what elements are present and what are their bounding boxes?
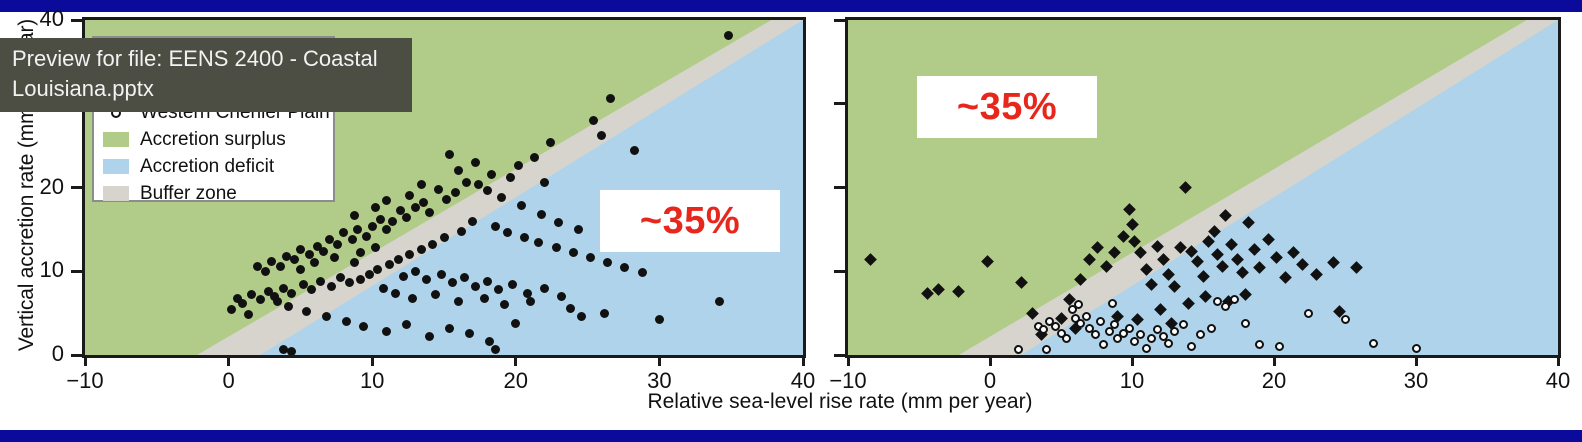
- scatter-point: [302, 307, 311, 316]
- annotation-left-percent: ~35%: [600, 190, 780, 252]
- scatter-point: [1255, 340, 1264, 349]
- scatter-point: [1241, 319, 1250, 328]
- scatter-point: [445, 324, 454, 333]
- scatter-point: [411, 203, 420, 212]
- scatter-point: [494, 285, 503, 294]
- scatter-point: [1187, 342, 1196, 351]
- scatter-point: [299, 280, 308, 289]
- scatter-point: [460, 273, 469, 282]
- scatter-point: [1310, 268, 1323, 281]
- x-axis-tick-label: 10: [342, 368, 402, 394]
- scatter-point: [296, 245, 305, 254]
- x-axis-tick: [227, 355, 230, 366]
- scatter-point: [1074, 300, 1083, 309]
- scatter-point: [1108, 299, 1117, 308]
- scatter-point: [279, 284, 288, 293]
- scatter-point: [1275, 342, 1284, 351]
- scatter-point: [600, 309, 609, 318]
- scatter-point: [574, 225, 583, 234]
- scatter-point: [1163, 268, 1176, 281]
- y-axis-tick: [834, 354, 845, 357]
- y-axis-tick: [834, 19, 845, 22]
- file-preview-tooltip: Preview for file: EENS 2400 - Coastal Lo…: [0, 38, 412, 112]
- scatter-point: [379, 284, 388, 293]
- legend-color-swatch: [103, 186, 129, 201]
- legend-item-label: Accretion surplus: [140, 129, 286, 151]
- scatter-point: [382, 225, 391, 234]
- scatter-point: [1341, 315, 1350, 324]
- scatter-point: [451, 188, 460, 197]
- scatter-point: [402, 320, 411, 329]
- scatter-point: [405, 250, 414, 259]
- y-axis-tick: [834, 102, 845, 105]
- scatter-point: [557, 292, 566, 301]
- scatter-point: [569, 248, 578, 257]
- x-axis-tick-label: 0: [960, 368, 1020, 394]
- scatter-point: [1211, 248, 1224, 261]
- scatter-point: [1142, 344, 1151, 353]
- scatter-point: [577, 312, 586, 321]
- scatter-point: [483, 186, 492, 195]
- scatter-point: [1196, 330, 1205, 339]
- scatter-point: [1082, 312, 1091, 321]
- scatter-point: [428, 240, 437, 249]
- x-axis-tick: [658, 355, 661, 366]
- scatter-point: [1146, 278, 1159, 291]
- scatter-point: [1197, 270, 1210, 283]
- y-axis-tick-label: 40: [18, 6, 64, 32]
- scatter-point: [1147, 334, 1156, 343]
- scatter-point: [417, 180, 426, 189]
- x-axis-tick-label: 10: [1102, 368, 1162, 394]
- scatter-point: [342, 317, 351, 326]
- bottom-navy-bar: [0, 430, 1582, 442]
- scatter-point: [589, 116, 598, 125]
- scatter-point: [371, 203, 380, 212]
- scatter-point: [1288, 246, 1301, 259]
- scatter-point: [517, 201, 526, 210]
- y-axis-tick: [71, 19, 82, 22]
- y-axis-tick-label: 0: [18, 341, 64, 367]
- scatter-point: [655, 315, 664, 324]
- scatter-point: [1191, 255, 1204, 268]
- scatter-point: [483, 277, 492, 286]
- scatter-point: [540, 284, 549, 293]
- scatter-point: [465, 329, 474, 338]
- scatter-point: [1091, 330, 1100, 339]
- scatter-point: [434, 185, 443, 194]
- scatter-point: [566, 304, 575, 313]
- scatter-point: [471, 282, 480, 291]
- scatter-point: [1248, 243, 1261, 256]
- scatter-point: [313, 242, 322, 251]
- scatter-point: [391, 289, 400, 298]
- y-axis-tick: [71, 186, 82, 189]
- scatter-point: [491, 222, 500, 231]
- scatter-point: [1239, 288, 1252, 301]
- x-axis-tick: [1557, 355, 1560, 366]
- chart-panel-right: [845, 17, 1561, 358]
- x-axis-tick-label: 30: [1386, 368, 1446, 394]
- scatter-point: [1304, 309, 1313, 318]
- scatter-point: [1231, 253, 1244, 266]
- scatter-point: [276, 262, 285, 271]
- scatter-point: [480, 294, 489, 303]
- scatter-point: [534, 238, 543, 247]
- scatter-point: [468, 217, 477, 226]
- x-axis-tick: [371, 355, 374, 366]
- scatter-point: [385, 260, 394, 269]
- scatter-point: [1099, 340, 1108, 349]
- x-axis-tick-label: 20: [1244, 368, 1304, 394]
- scatter-point: [457, 227, 466, 236]
- scatter-point: [511, 319, 520, 328]
- scatter-point: [1369, 339, 1378, 348]
- x-axis-tick-label: 0: [199, 368, 259, 394]
- scatter-point: [506, 173, 515, 182]
- legend-item: Buffer zone: [103, 180, 324, 207]
- scatter-point: [233, 294, 242, 303]
- scatter-point: [382, 327, 391, 336]
- scatter-point: [411, 267, 420, 276]
- scatter-point: [287, 289, 296, 298]
- scatter-point: [273, 297, 282, 306]
- x-axis-tick: [802, 355, 805, 366]
- scatter-point: [1136, 330, 1145, 339]
- scatter-point: [1230, 295, 1239, 304]
- scatter-point: [603, 258, 612, 267]
- scatter-point: [474, 180, 483, 189]
- scatter-point: [431, 290, 440, 299]
- legend-item-label: Accretion deficit: [140, 156, 274, 178]
- scatter-point: [362, 232, 371, 241]
- scatter-point: [316, 277, 325, 286]
- scatter-point: [394, 255, 403, 264]
- scatter-point: [1042, 345, 1051, 354]
- scatter-point: [724, 31, 733, 40]
- y-axis-tick: [71, 270, 82, 273]
- scatter-point: [1270, 251, 1283, 264]
- top-navy-bar: [0, 0, 1582, 12]
- scatter-point: [1154, 303, 1167, 316]
- scatter-point: [348, 235, 357, 244]
- y-axis-tick: [834, 270, 845, 273]
- scatter-point: [1242, 216, 1255, 229]
- scatter-point: [1296, 258, 1309, 271]
- x-axis-tick: [514, 355, 517, 366]
- scatter-point: [1062, 334, 1071, 343]
- scatter-point: [491, 345, 500, 354]
- scatter-point: [1253, 262, 1266, 275]
- scatter-point: [530, 153, 539, 162]
- scatter-point: [526, 297, 535, 306]
- scatter-point: [408, 294, 417, 303]
- scatter-point: [1170, 327, 1179, 336]
- scatter-point: [520, 233, 529, 242]
- x-axis-tick-label: −10: [818, 368, 878, 394]
- screenshot-root: Vertical accretion rate (mm per year) Re…: [0, 0, 1582, 442]
- scatter-point: [552, 243, 561, 252]
- scatter-point: [1350, 262, 1363, 275]
- scatter-point: [487, 170, 496, 179]
- scatter-point: [497, 193, 506, 202]
- y-axis-tick: [834, 186, 845, 189]
- x-axis-tick: [1415, 355, 1418, 366]
- scatter-point: [359, 322, 368, 331]
- x-axis-tick: [1273, 355, 1276, 366]
- scatter-point: [1207, 324, 1216, 333]
- scatter-point: [546, 138, 555, 147]
- scatter-point: [371, 243, 380, 252]
- scatter-point: [1096, 317, 1105, 326]
- scatter-point: [1217, 260, 1230, 273]
- scatter-point: [540, 178, 549, 187]
- scatter-point: [1225, 238, 1238, 251]
- scatter-point: [437, 270, 446, 279]
- legend-item: Accretion surplus: [103, 126, 324, 153]
- scatter-point: [325, 235, 334, 244]
- x-axis-tick: [847, 355, 850, 366]
- scatter-point: [554, 218, 563, 227]
- scatter-point: [445, 150, 454, 159]
- scatter-point: [417, 245, 426, 254]
- scatter-point: [500, 300, 509, 309]
- scatter-point: [399, 272, 408, 281]
- scatter-point: [1262, 233, 1275, 246]
- scatter-point: [1199, 290, 1212, 303]
- x-axis-tick: [84, 355, 87, 366]
- scatter-point: [440, 233, 449, 242]
- scatter-point: [365, 270, 374, 279]
- scatter-point: [715, 297, 724, 306]
- x-axis-tick-label: −10: [55, 368, 115, 394]
- y-axis-tick-label: 10: [18, 257, 64, 283]
- scatter-point: [322, 312, 331, 321]
- scatter-point: [448, 278, 457, 287]
- y-axis-tick-label: 20: [18, 174, 64, 200]
- scatter-point: [620, 263, 629, 272]
- scatter-point: [537, 210, 546, 219]
- legend-color-swatch: [103, 159, 129, 174]
- scatter-point: [422, 275, 431, 284]
- annotation-right-percent: ~35%: [917, 76, 1097, 138]
- plot-frame-right: [845, 17, 1561, 358]
- scatter-point: [1168, 280, 1181, 293]
- legend-item-label: Buffer zone: [140, 183, 237, 205]
- scatter-point: [630, 146, 639, 155]
- scatter-point: [425, 332, 434, 341]
- scatter-point: [1179, 320, 1188, 329]
- scatter-point: [503, 228, 512, 237]
- scatter-point: [287, 347, 296, 356]
- scatter-point: [253, 262, 262, 271]
- scatter-point: [1327, 257, 1340, 270]
- scatter-point: [368, 222, 377, 231]
- x-axis-tick: [1131, 355, 1134, 366]
- scatter-point: [1221, 302, 1230, 311]
- scatter-point: [586, 253, 595, 262]
- scatter-point: [1110, 320, 1119, 329]
- scatter-point: [388, 217, 397, 226]
- scatter-point: [282, 252, 291, 261]
- scatter-point: [267, 257, 276, 266]
- scatter-point: [1182, 297, 1195, 310]
- scatter-point: [454, 297, 463, 306]
- scatter-point: [1125, 324, 1134, 333]
- x-axis-tick: [989, 355, 992, 366]
- x-axis-tick-label: 20: [486, 368, 546, 394]
- scatter-point: [471, 158, 480, 167]
- legend-color-swatch: [103, 132, 129, 147]
- x-axis-tick-label: 40: [1528, 368, 1582, 394]
- scatter-point: [638, 268, 647, 277]
- scatter-point: [296, 265, 305, 274]
- legend-item: Accretion deficit: [103, 153, 324, 180]
- scatter-point: [1164, 339, 1173, 348]
- scatter-point: [1412, 344, 1421, 353]
- scatter-point: [1236, 267, 1249, 280]
- scatter-point: [1279, 272, 1292, 285]
- y-axis-tick: [71, 354, 82, 357]
- scatter-point: [256, 295, 265, 304]
- scatter-point: [508, 280, 517, 289]
- scatter-point: [1131, 313, 1144, 326]
- x-axis-tick-label: 30: [629, 368, 689, 394]
